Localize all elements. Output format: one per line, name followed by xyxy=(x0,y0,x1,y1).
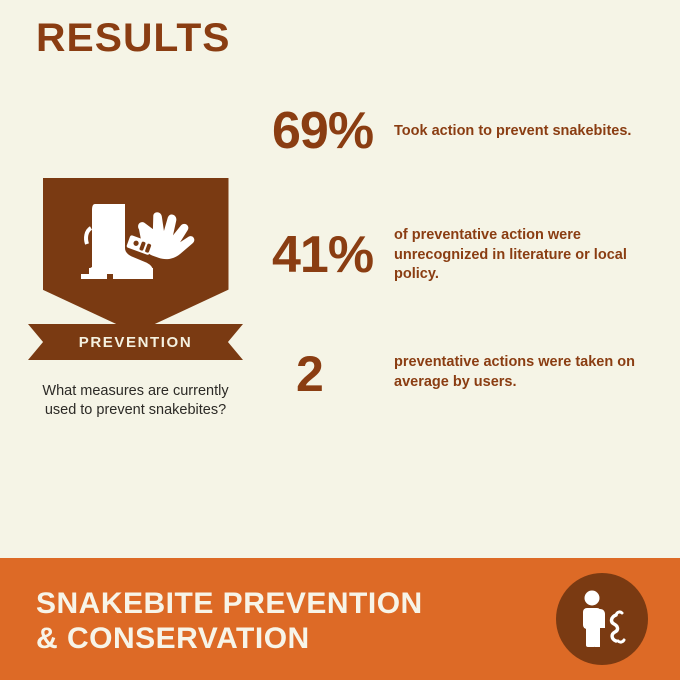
stat-number: 69% xyxy=(272,108,394,156)
stat-item: 41% of preventative action were unrecogn… xyxy=(272,224,672,285)
stat-description: preventative actions were taken on avera… xyxy=(394,351,672,392)
stat-item: 2 preventative actions were taken on ave… xyxy=(272,351,672,397)
stat-number: 41% xyxy=(272,224,394,280)
person-and-snake-logo xyxy=(556,573,648,665)
badge-caption: What measures are currently used to prev… xyxy=(28,382,243,420)
page-title: RESULTS xyxy=(36,16,231,61)
stat-item: 69% Took action to prevent snakebites. xyxy=(272,108,672,156)
footer-title: SNAKEBITE PREVENTION & CONSERVATION xyxy=(36,586,423,657)
statistics-list: 69% Took action to prevent snakebites. 4… xyxy=(272,100,672,397)
ribbon-banner: PREVENTION xyxy=(28,324,243,360)
prevention-badge: PREVENTION What measures are currently u… xyxy=(28,178,243,420)
stat-description: of preventative action were unrecognized… xyxy=(394,224,672,285)
stat-description: Took action to prevent snakebites. xyxy=(394,122,631,142)
boot-and-glove-icon xyxy=(77,200,195,285)
shield-shape xyxy=(43,178,229,333)
footer-band: SNAKEBITE PREVENTION & CONSERVATION xyxy=(0,558,680,680)
stat-number: 2 xyxy=(272,351,394,397)
ribbon-shape: PREVENTION xyxy=(28,324,243,360)
ribbon-label: PREVENTION xyxy=(79,334,193,351)
